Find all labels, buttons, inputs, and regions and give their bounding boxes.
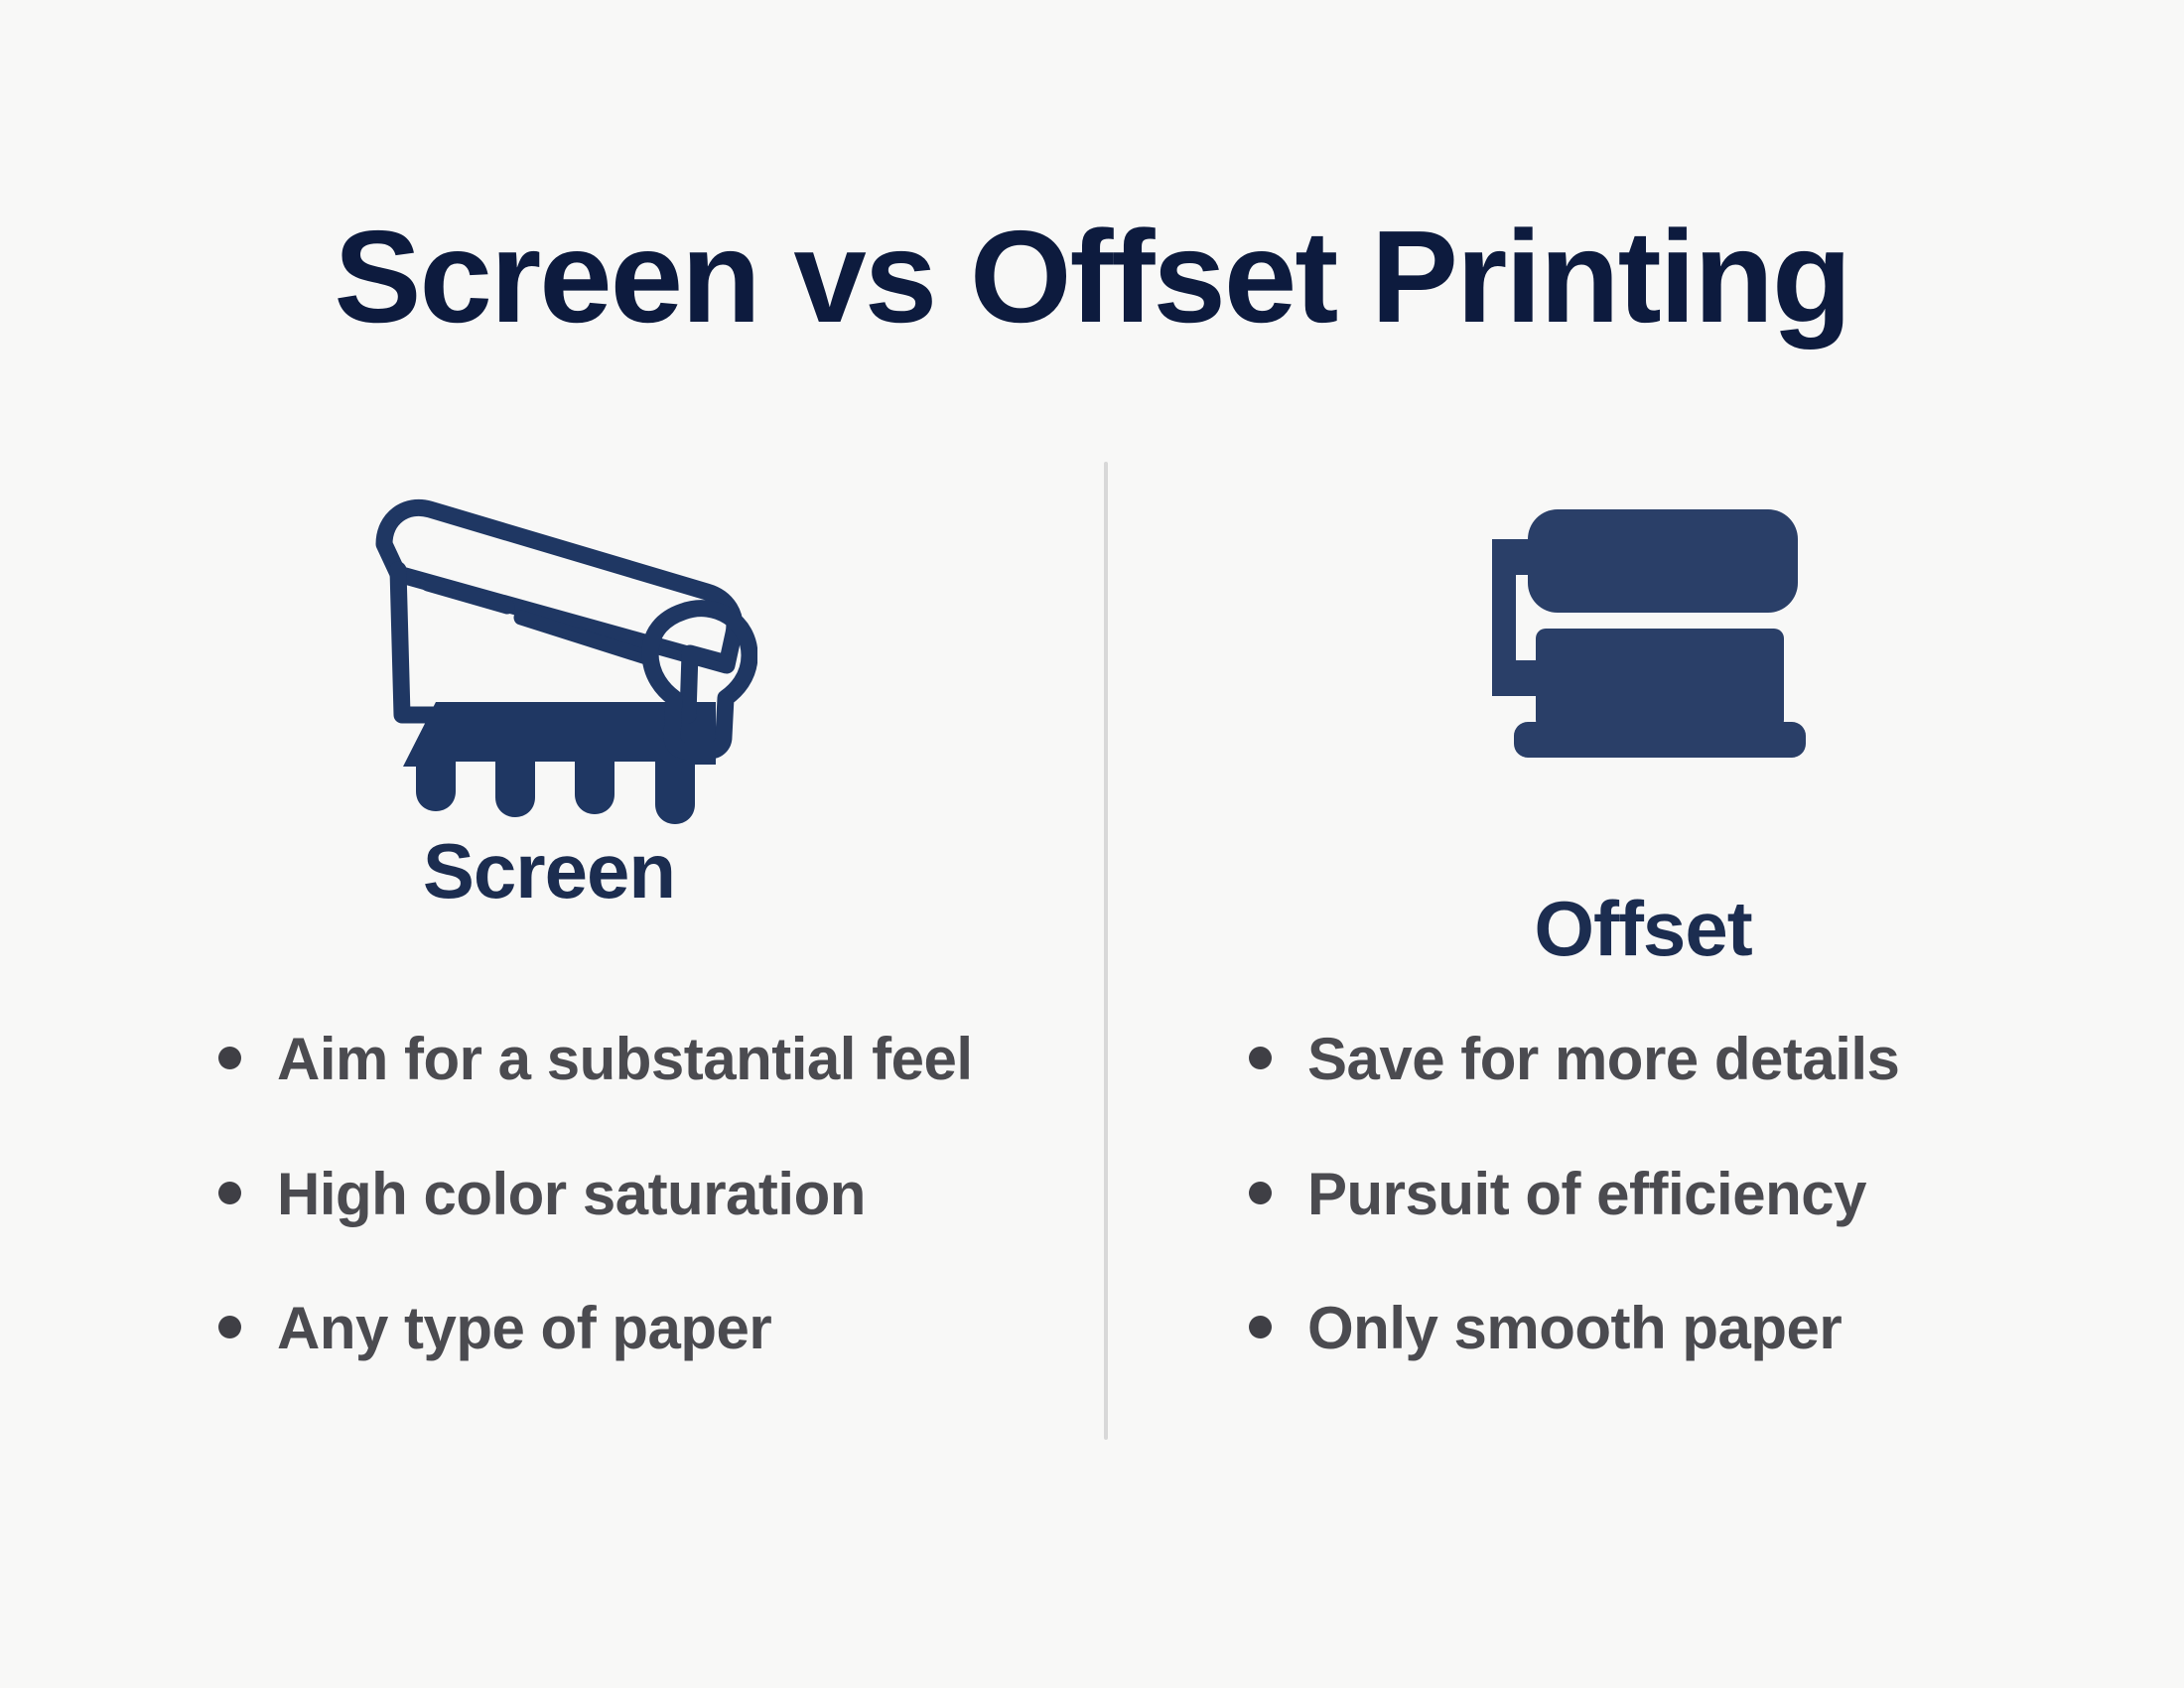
list-item: Only smooth paper [1249, 1294, 1899, 1363]
bullet-dot-icon [1249, 1182, 1272, 1204]
bullet-text: Pursuit of efficiency [1307, 1160, 1866, 1229]
screen-icon-wrap [8, 467, 1102, 824]
column-offset: Offset Save for more details Pursuit of … [1102, 467, 2184, 1460]
bullet-text: Aim for a substantial feel [277, 1025, 973, 1094]
column-screen: Screen Aim for a substantial feel High c… [8, 467, 1090, 1460]
bullet-dot-icon [218, 1316, 241, 1338]
bullet-dot-icon [1249, 1047, 1272, 1069]
infographic-canvas: Screen vs Offset Printing [0, 0, 2184, 1688]
list-item: Save for more details [1249, 1025, 1899, 1094]
bullet-text: Any type of paper [277, 1294, 771, 1363]
bullet-dot-icon [218, 1047, 241, 1069]
bullet-text: High color saturation [277, 1160, 866, 1229]
column-label-screen: Screen [8, 832, 1090, 910]
list-item: Aim for a substantial feel [218, 1025, 973, 1094]
list-item: High color saturation [218, 1160, 973, 1229]
offset-press-roller-icon [1480, 501, 1818, 789]
bullet-list-screen: Aim for a substantial feel High color sa… [218, 1025, 973, 1429]
bullet-text: Save for more details [1307, 1025, 1899, 1094]
list-item: Any type of paper [218, 1294, 973, 1363]
column-label-offset: Offset [1102, 890, 2184, 967]
page-title: Screen vs Offset Printing [0, 205, 2184, 349]
bullet-dot-icon [1249, 1316, 1272, 1338]
offset-icon-wrap [1102, 467, 2184, 824]
bullet-dot-icon [218, 1182, 241, 1204]
bullet-list-offset: Save for more details Pursuit of efficie… [1249, 1025, 1899, 1429]
list-item: Pursuit of efficiency [1249, 1160, 1899, 1229]
squeegee-screen-printing-icon [341, 467, 757, 824]
bullet-text: Only smooth paper [1307, 1294, 1842, 1363]
